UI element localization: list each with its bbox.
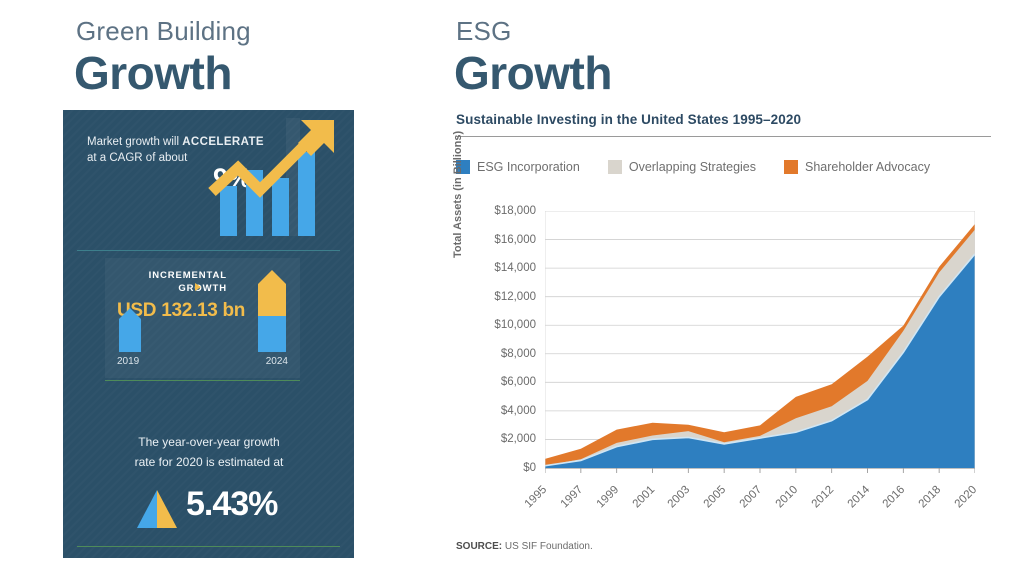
x-tick-label: 2016 — [875, 484, 908, 517]
source-prefix: SOURCE: — [456, 541, 502, 552]
x-tick-label: 2010 — [768, 484, 801, 517]
x-tick-label: 2007 — [732, 484, 765, 517]
x-axis-ticks: 1995199719992001200320052007201020122014… — [0, 0, 1024, 577]
x-tick-label: 2018 — [911, 484, 944, 517]
x-tick-label: 1997 — [553, 484, 586, 517]
x-tick-label: 2012 — [803, 484, 836, 517]
x-tick-label: 2003 — [660, 484, 693, 517]
x-tick-label: 2020 — [947, 484, 980, 517]
x-tick-label: 2014 — [839, 484, 872, 517]
x-tick-label: 2005 — [696, 484, 729, 517]
x-tick-label: 2001 — [624, 484, 657, 517]
chart-source-note: SOURCE: US SIF Foundation. — [456, 541, 593, 552]
x-tick-label: 1999 — [588, 484, 621, 517]
slide-canvas: Green Building Growth Market growth will… — [0, 0, 1024, 577]
source-text: US SIF Foundation. — [502, 541, 593, 552]
x-tick-label: 1995 — [517, 484, 550, 517]
